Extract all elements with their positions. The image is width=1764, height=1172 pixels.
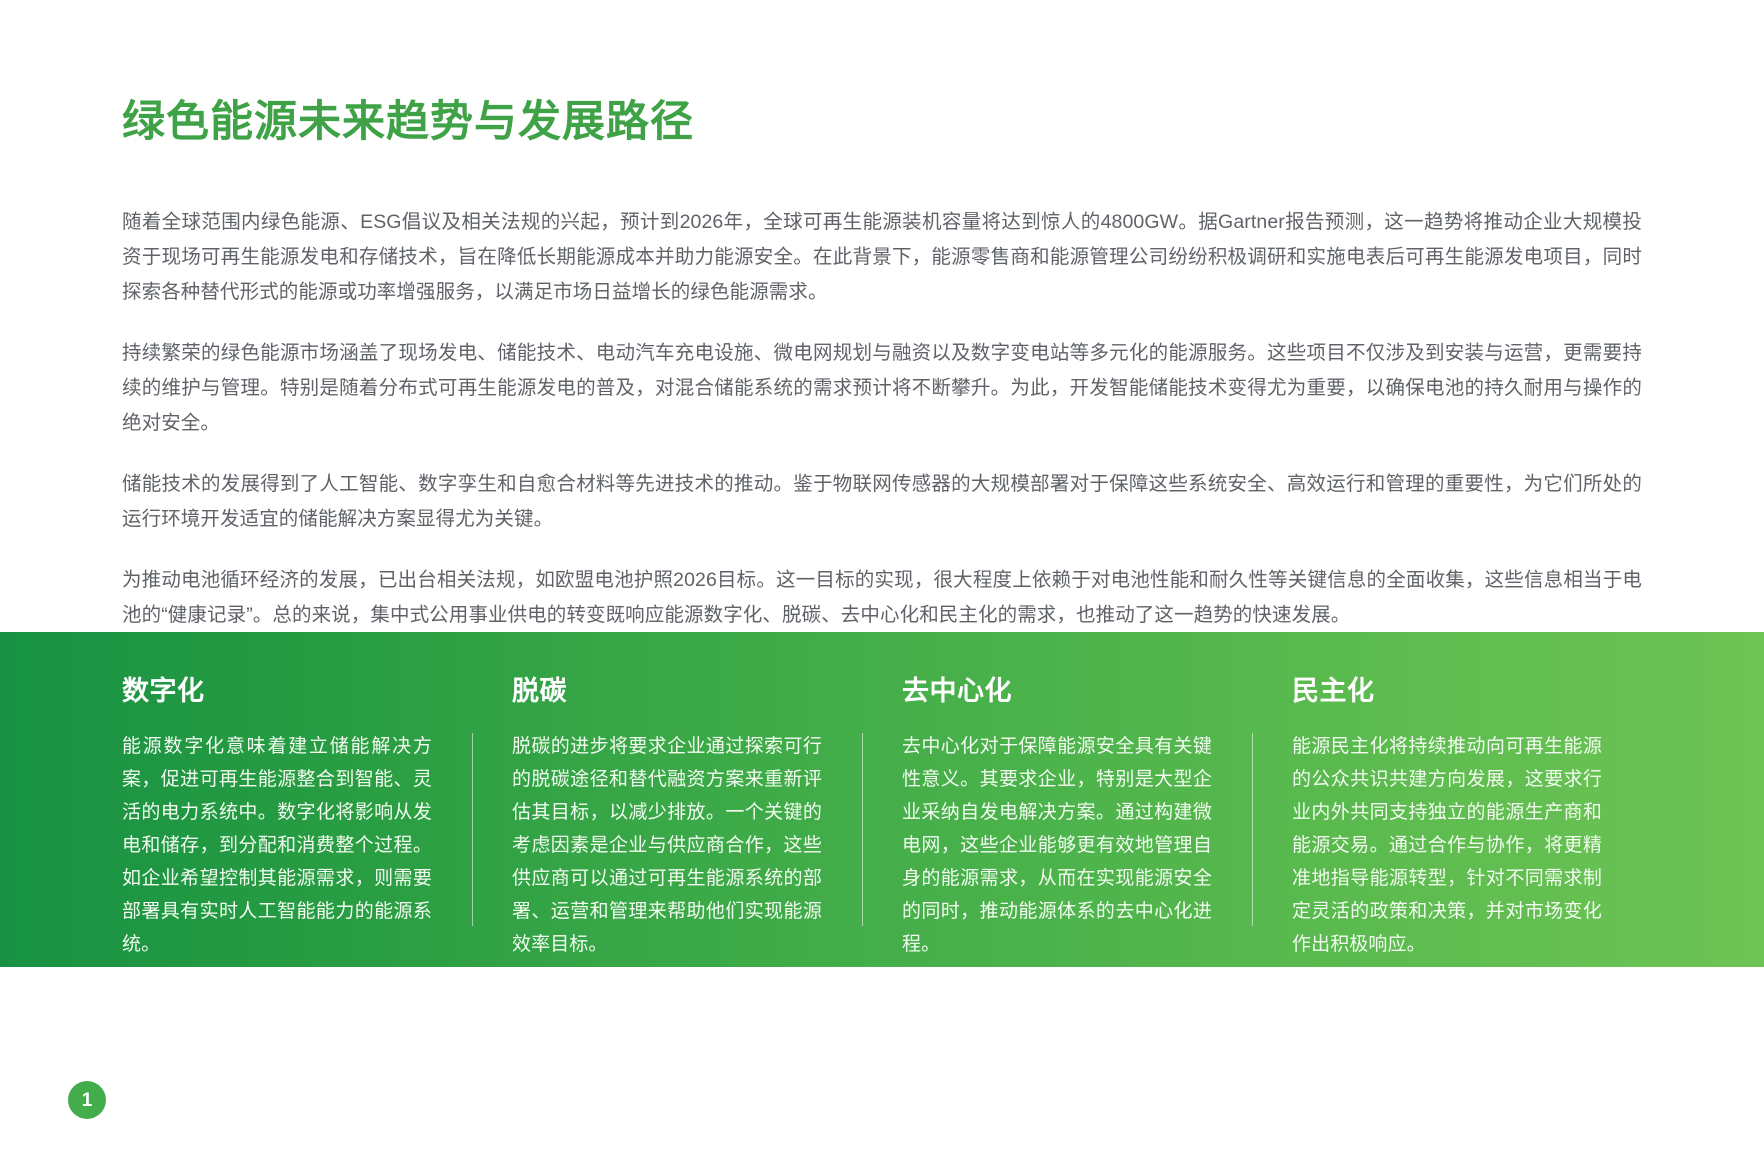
feature-text: 能源民主化将持续推动向可再生能源的公众共识共建方向发展，这要求行业内外共同支持独… <box>1292 730 1602 961</box>
document-page: 绿色能源未来趋势与发展路径 随着全球范围内绿色能源、ESG倡议及相关法规的兴起，… <box>0 0 1764 1172</box>
body-content: 随着全球范围内绿色能源、ESG倡议及相关法规的兴起，预计到2026年，全球可再生… <box>122 205 1642 633</box>
feature-band: 数字化 能源数字化意味着建立储能解决方案，促进可再生能源整合到智能、灵活的电力系… <box>0 632 1764 967</box>
page-number-badge: 1 <box>68 1081 106 1119</box>
feature-title: 数字化 <box>122 675 432 707</box>
feature-text: 去中心化对于保障能源安全具有关键性意义。其要求企业，特别是大型企业采纳自发电解决… <box>902 730 1212 961</box>
feature-title: 民主化 <box>1292 675 1602 707</box>
paragraph-2: 持续繁荣的绿色能源市场涵盖了现场发电、储能技术、电动汽车充电设施、微电网规划与融… <box>122 336 1642 441</box>
feature-text: 脱碳的进步将要求企业通过探索可行的脱碳途径和替代融资方案来重新评估其目标，以减少… <box>512 730 822 961</box>
page-title: 绿色能源未来趋势与发展路径 <box>122 96 694 150</box>
feature-column-digitalization: 数字化 能源数字化意味着建立储能解决方案，促进可再生能源整合到智能、灵活的电力系… <box>122 675 472 961</box>
column-divider <box>862 733 863 926</box>
paragraph-1: 随着全球范围内绿色能源、ESG倡议及相关法规的兴起，预计到2026年，全球可再生… <box>122 205 1642 310</box>
feature-title: 去中心化 <box>902 675 1212 707</box>
feature-columns: 数字化 能源数字化意味着建立储能解决方案，促进可再生能源整合到智能、灵活的电力系… <box>122 632 1642 967</box>
feature-title: 脱碳 <box>512 675 822 707</box>
column-divider <box>1252 733 1253 926</box>
feature-column-decarbonization: 脱碳 脱碳的进步将要求企业通过探索可行的脱碳途径和替代融资方案来重新评估其目标，… <box>472 675 862 961</box>
paragraph-3: 储能技术的发展得到了人工智能、数字孪生和自愈合材料等先进技术的推动。鉴于物联网传… <box>122 467 1642 537</box>
column-divider <box>472 733 473 926</box>
feature-text: 能源数字化意味着建立储能解决方案，促进可再生能源整合到智能、灵活的电力系统中。数… <box>122 730 432 961</box>
feature-column-decentralization: 去中心化 去中心化对于保障能源安全具有关键性意义。其要求企业，特别是大型企业采纳… <box>862 675 1252 961</box>
paragraph-4: 为推动电池循环经济的发展，已出台相关法规，如欧盟电池护照2026目标。这一目标的… <box>122 563 1642 633</box>
feature-column-democratization: 民主化 能源民主化将持续推动向可再生能源的公众共识共建方向发展，这要求行业内外共… <box>1252 675 1642 961</box>
